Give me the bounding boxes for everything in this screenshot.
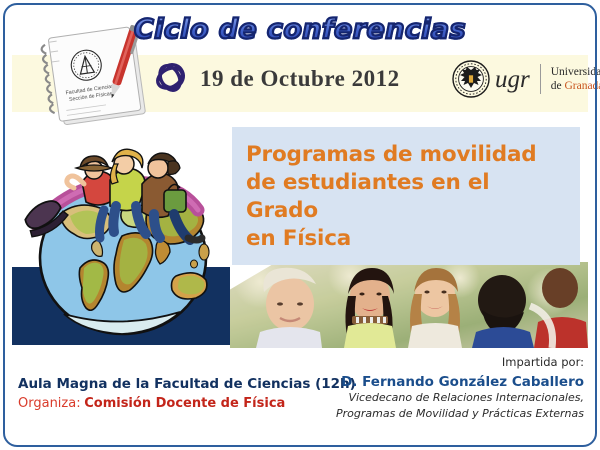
ugr-acronym: ugr xyxy=(495,67,535,92)
series-title-text: Ciclo de conferencias xyxy=(134,14,466,45)
ugr-divider xyxy=(540,64,541,94)
ugr-name-line1: Universidad xyxy=(551,65,600,79)
speaker-name: D. Fernando González Caballero xyxy=(264,374,584,390)
organizer-label: Organiza: xyxy=(18,396,81,411)
speaker-role-line-1: Vicedecano de Relaciones Internacionales… xyxy=(264,391,584,406)
conference-poster: Facultad de Ciencias Sección de Físicas … xyxy=(0,0,600,450)
speaker-role-line-2: Programas de Movilidad y Prácticas Exter… xyxy=(264,407,584,422)
main-title-line-2: de estudiantes en el Grado xyxy=(246,169,564,225)
ugr-name-line2: de Granada xyxy=(551,79,600,93)
speaker-block: Impartida por: D. Fernando González Caba… xyxy=(264,355,584,422)
series-title: Ciclo de conferencias xyxy=(0,14,600,45)
interlocking-rings-logo-icon xyxy=(150,58,192,100)
main-title-panel: Programas de movilidad de estudiantes en… xyxy=(232,127,580,265)
university-logo: ugr Universidad de Granada xyxy=(452,60,600,98)
event-date: 19 de Octubre 2012 xyxy=(200,66,400,92)
globe-with-travellers-icon xyxy=(18,128,233,343)
speaker-intro: Impartida por: xyxy=(264,355,584,369)
main-title-line-1: Programas de movilidad xyxy=(246,141,564,169)
ugr-de: de xyxy=(551,80,565,92)
organizer-name: Comisión Docente de Física xyxy=(84,396,285,411)
students-photo xyxy=(230,262,588,348)
date-row: 19 de Octubre 2012 xyxy=(150,58,400,100)
ugr-city: Granada xyxy=(564,80,600,92)
main-title-line-3: en Física xyxy=(246,225,564,253)
ugr-name: Universidad de Granada xyxy=(546,65,600,94)
university-crest-icon xyxy=(452,60,490,98)
